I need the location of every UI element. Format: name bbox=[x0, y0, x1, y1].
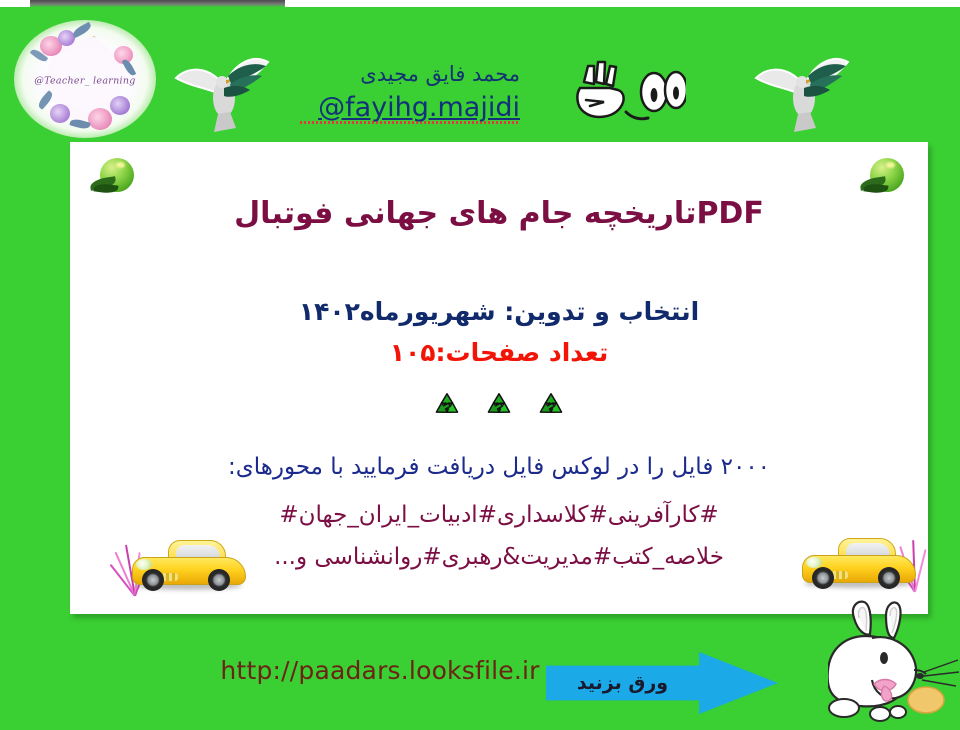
body-line-2-hashtags: #کارآفرینی#کلاسداری#ادبیات_ایران_جهان# bbox=[70, 502, 928, 528]
teacher-learning-logo: @Teacher_ learning bbox=[14, 20, 156, 138]
recycle-icon bbox=[536, 391, 566, 421]
recycle-icon-row bbox=[70, 390, 928, 421]
rabbit-icon bbox=[828, 600, 960, 730]
flower-icon bbox=[50, 104, 70, 123]
dove-icon bbox=[168, 48, 278, 134]
website-url[interactable]: http://paadars.looksfile.ir bbox=[180, 656, 580, 685]
page-count-subtitle: تعداد صفحات:۱۰۵ bbox=[70, 338, 928, 367]
flower-icon bbox=[110, 96, 130, 115]
author-name: محمد فایق مجیدی bbox=[300, 62, 520, 86]
yellow-car-icon bbox=[128, 530, 248, 592]
top-white-gap bbox=[285, 0, 345, 5]
leaf-icon bbox=[71, 22, 92, 38]
edition-subtitle: انتخاب و تدوین: شهریورماه۱۴۰۲ bbox=[70, 297, 928, 326]
flower-icon bbox=[88, 108, 112, 130]
hand-and-eyes-emoji bbox=[566, 60, 686, 126]
waving-hand-icon bbox=[577, 62, 648, 119]
recycle-icon bbox=[484, 391, 514, 421]
green-apple-icon bbox=[90, 156, 136, 198]
content-card: PDFتاریخچه جام های جهانی فوتبال انتخاب و… bbox=[70, 142, 928, 614]
next-page-label: ورق بزنید bbox=[546, 652, 699, 714]
dove-icon bbox=[748, 48, 858, 134]
green-apple-icon bbox=[860, 156, 906, 198]
top-dark-bar bbox=[30, 0, 285, 7]
body-line-1: ۲۰۰۰ فایل را در لوکس فایل دریافت فرمایید… bbox=[70, 454, 928, 480]
next-page-button[interactable]: ورق بزنید bbox=[546, 652, 778, 714]
logo-label: @Teacher_ learning bbox=[14, 76, 156, 87]
page-title: PDFتاریخچه جام های جهانی فوتبال bbox=[70, 196, 928, 231]
author-handle: @fayihg.majidi bbox=[300, 92, 520, 124]
slide-canvas: @Teacher_ learning bbox=[0, 0, 960, 730]
author-handle-text: @fayihg.majidi bbox=[318, 92, 520, 123]
recycle-icon bbox=[432, 391, 462, 421]
eyes-icon bbox=[641, 72, 686, 111]
yellow-car-icon bbox=[798, 528, 918, 590]
